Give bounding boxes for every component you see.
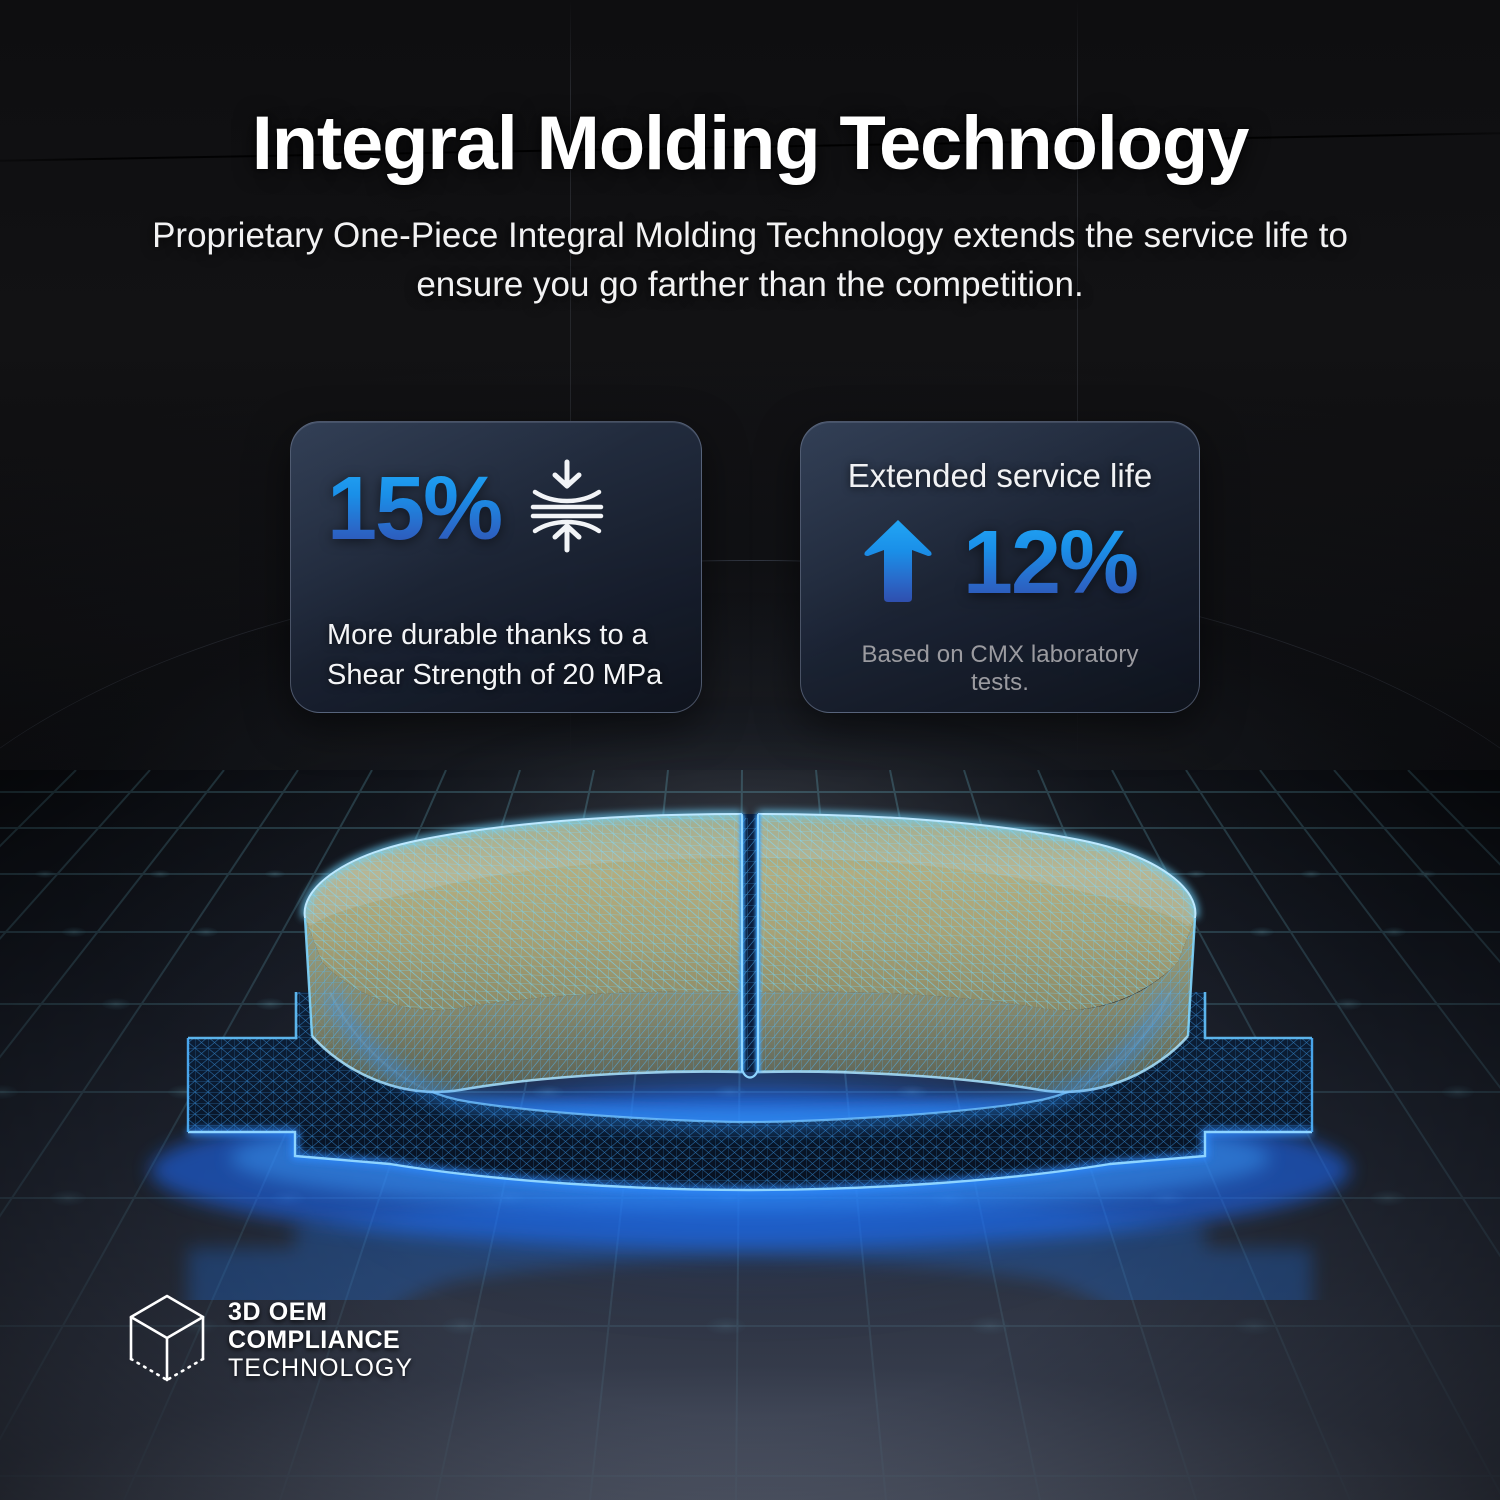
brand-logo: 3D OEM COMPLIANCE TECHNOLOGY (124, 1290, 413, 1391)
page-subtitle: Proprietary One-Piece Integral Molding T… (115, 211, 1385, 310)
durability-caption: More durable thanks to a Shear Strength … (321, 615, 671, 695)
center-slot (742, 814, 758, 1078)
header: Integral Molding Technology Proprietary … (0, 0, 1500, 310)
page-title: Integral Molding Technology (0, 104, 1500, 185)
service-life-footnote: Based on CMX laboratory tests. (831, 641, 1169, 697)
brake-pad-model (0, 740, 1500, 1300)
brake-pad-wireframe-svg (0, 740, 1500, 1300)
brand-logo-line3: TECHNOLOGY (228, 1356, 413, 1381)
stat-card-group: 15% (0, 421, 1500, 721)
scene-stage: Integral Molding Technology Proprietary … (0, 0, 1500, 1500)
stat-card-durability[interactable]: 15% (290, 421, 702, 713)
durability-stat-row: 15% (321, 456, 671, 561)
arrow-up-icon (863, 518, 933, 609)
stat-card-service-life[interactable]: Extended service life (800, 421, 1200, 713)
durability-percent-value: 15% (327, 464, 501, 554)
compression-icon (527, 456, 607, 561)
brand-logo-line1: 3D OEM (228, 1300, 413, 1325)
service-life-percent-value: 12% (963, 518, 1137, 608)
wireframe-cube-icon (124, 1290, 210, 1391)
service-life-stat-row: 12% (831, 518, 1169, 609)
brand-logo-line2: COMPLIANCE (228, 1328, 413, 1353)
service-life-heading: Extended service life (831, 456, 1169, 496)
brand-logo-text: 3D OEM COMPLIANCE TECHNOLOGY (228, 1300, 413, 1381)
